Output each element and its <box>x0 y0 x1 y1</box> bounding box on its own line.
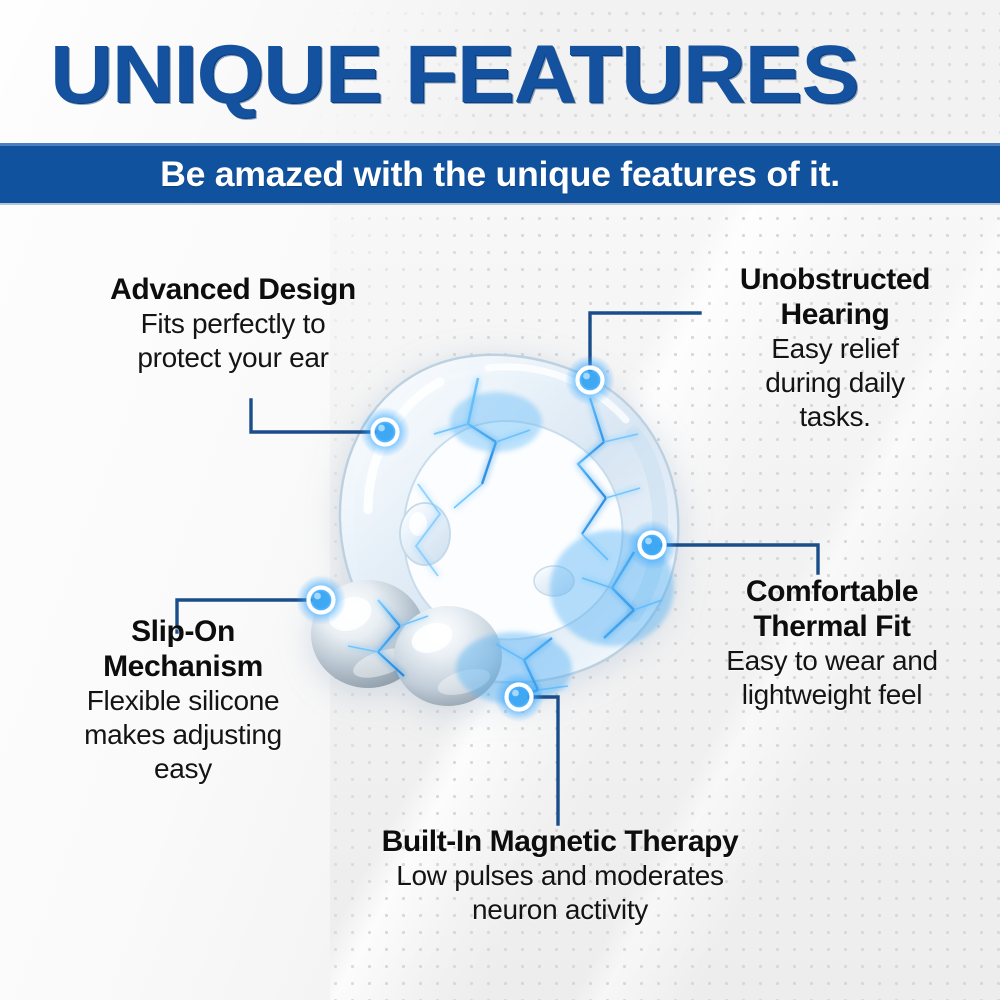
header-bar: UNIQUE FEATURES <box>0 0 1000 143</box>
marker-slip-on-mechanism[interactable] <box>295 574 347 626</box>
callout-body-line: Fits perfectly to <box>38 307 428 341</box>
callout-title: Built-In Magnetic Therapy <box>300 824 820 859</box>
page-title: UNIQUE FEATURES <box>50 33 858 117</box>
callout-title-line: Hearing <box>690 297 980 332</box>
feature-infographic-poster: UNIQUE FEATURES Be amazed with the uniqu… <box>0 0 1000 1000</box>
callout-title-line: Thermal Fit <box>672 609 992 644</box>
callout-body-line: Flexible silicone <box>18 684 348 718</box>
callout-body-line: Easy to wear and <box>672 644 992 678</box>
callout-body-line: neuron activity <box>300 893 820 927</box>
callout-slip-on-mechanism: Slip-On Mechanism Flexible silicone make… <box>18 614 348 786</box>
marker-unobstructed-hearing[interactable] <box>564 354 616 406</box>
callout-body-line: during daily <box>690 366 980 400</box>
subtitle-text: Be amazed with the unique features of it… <box>0 155 1000 195</box>
callout-advanced-design: Advanced Design Fits perfectly to protec… <box>38 272 428 375</box>
subtitle-banner: Be amazed with the unique features of it… <box>0 143 1000 205</box>
callout-title: Advanced Design <box>38 272 428 307</box>
callout-body-line: easy <box>18 752 348 786</box>
marker-comfortable-thermal-fit[interactable] <box>626 519 678 571</box>
callout-body-line: lightweight feel <box>672 678 992 712</box>
callout-unobstructed-hearing: Unobstructed Hearing Easy relief during … <box>690 262 980 434</box>
callout-title-line: Mechanism <box>18 649 348 684</box>
marker-built-in-magnetic-therapy[interactable] <box>493 671 545 723</box>
marker-advanced-design[interactable] <box>359 406 411 458</box>
callout-comfortable-thermal-fit: Comfortable Thermal Fit Easy to wear and… <box>672 574 992 712</box>
callout-body-line: protect your ear <box>38 341 428 375</box>
callout-body-line: Low pulses and moderates <box>300 859 820 893</box>
callout-title-line: Unobstructed <box>690 262 980 297</box>
callout-body-line: tasks. <box>690 400 980 434</box>
callout-title-line: Comfortable <box>672 574 992 609</box>
callout-built-in-magnetic-therapy: Built-In Magnetic Therapy Low pulses and… <box>300 824 820 927</box>
callout-body-line: Easy relief <box>690 332 980 366</box>
callout-body-line: makes adjusting <box>18 718 348 752</box>
